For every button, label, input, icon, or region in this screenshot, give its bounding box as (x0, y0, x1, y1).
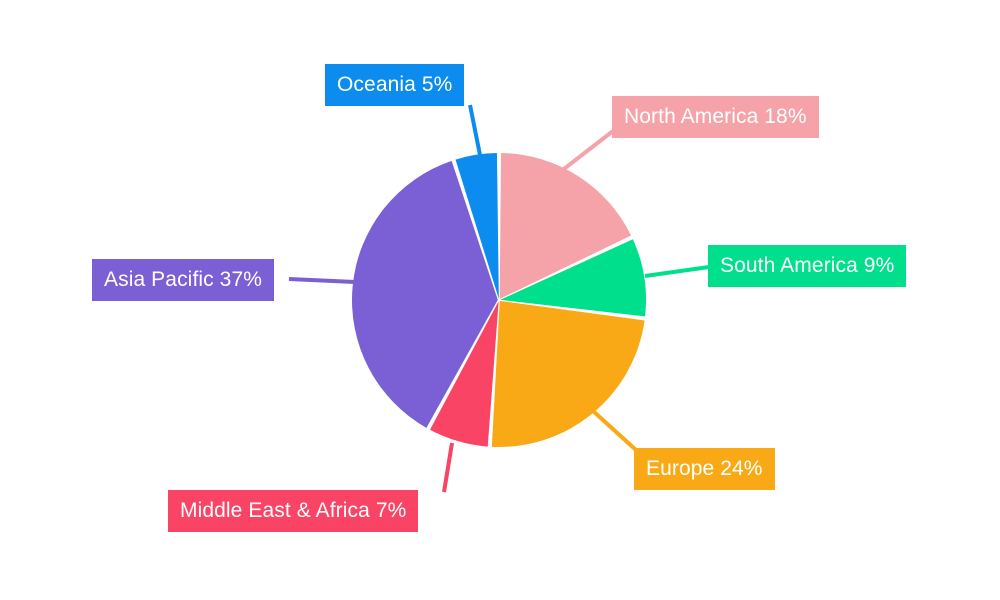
leader-line-asia-pacific (289, 279, 355, 282)
leader-line-oceania (470, 105, 481, 160)
pie-label-north-america[interactable]: North America 18% (612, 96, 819, 138)
leader-line-europe (593, 411, 636, 450)
pie-label-middle-east-africa[interactable]: Middle East & Africa 7% (168, 490, 418, 532)
leader-line-south-america (645, 267, 709, 276)
pie-label-europe[interactable]: Europe 24% (634, 448, 775, 490)
pie-slice-europe[interactable] (492, 301, 645, 447)
pie-slice-group (352, 153, 646, 447)
pie-chart-figure: North America 18%South America 9%Europe … (0, 0, 1000, 600)
leader-line-middle-east-africa (444, 443, 452, 492)
pie-label-oceania[interactable]: Oceania 5% (325, 64, 464, 106)
leader-line-north-america (560, 131, 613, 172)
pie-label-asia-pacific[interactable]: Asia Pacific 37% (92, 259, 274, 301)
pie-label-south-america[interactable]: South America 9% (708, 245, 906, 287)
